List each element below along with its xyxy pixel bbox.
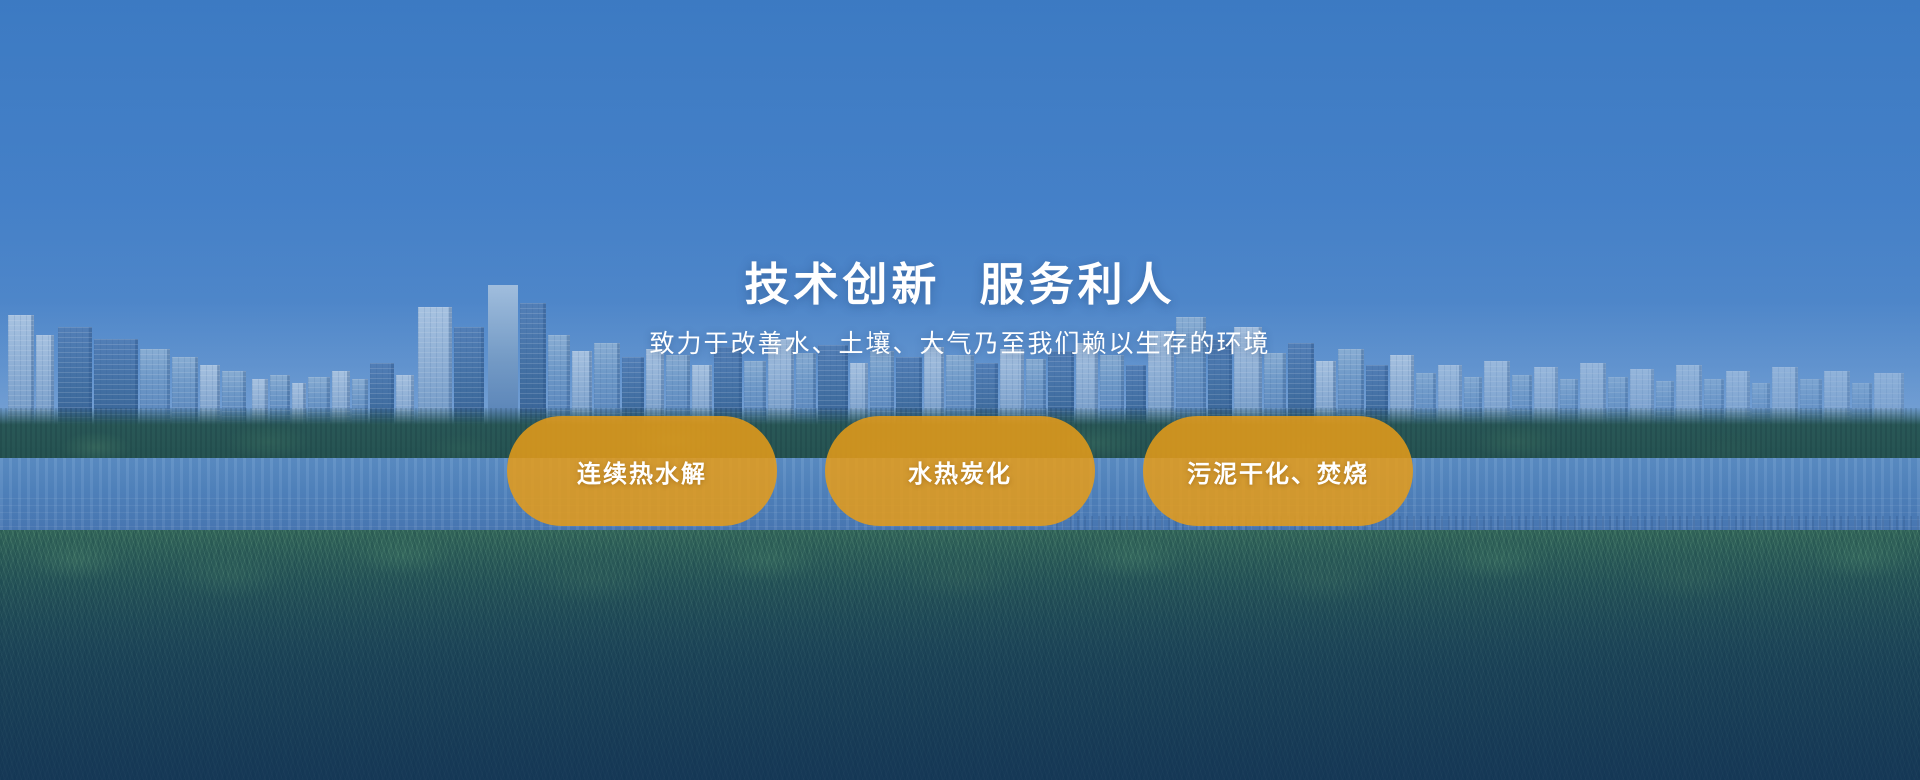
hero-button-continuous-thermal-hydrolysis[interactable]: 连续热水解: [507, 416, 777, 526]
hero-content: 技术创新 服务利人 致力于改善水、土壤、大气乃至我们赖以生存的环境 连续热水解 …: [0, 0, 1920, 780]
hero-headline: 技术创新 服务利人: [744, 262, 1175, 307]
hero-banner: 技术创新 服务利人 致力于改善水、土壤、大气乃至我们赖以生存的环境 连续热水解 …: [0, 0, 1920, 780]
hero-button-hydrothermal-carbonization[interactable]: 水热炭化: [825, 416, 1095, 526]
hero-subheadline: 致力于改善水、土壤、大气乃至我们赖以生存的环境: [649, 331, 1270, 356]
hero-button-group: 连续热水解 水热炭化 污泥干化、焚烧: [507, 416, 1413, 526]
hero-button-sludge-drying-incineration[interactable]: 污泥干化、焚烧: [1143, 416, 1413, 526]
